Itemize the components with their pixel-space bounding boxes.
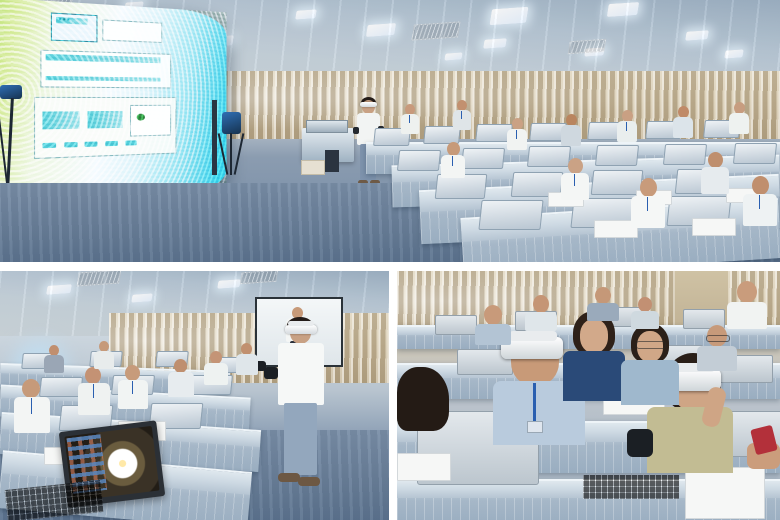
photo-presenter-audience: A young man in a white T-shirt wears a V… — [0, 271, 389, 520]
attendee-torso — [78, 383, 110, 415]
attendee-torso — [525, 312, 557, 331]
attendee-torso — [44, 355, 64, 373]
pc-tower — [325, 150, 339, 172]
vr-headset-icon — [360, 102, 377, 107]
ceiling-light — [686, 30, 710, 41]
keyboard[interactable] — [583, 475, 679, 499]
attendee — [587, 287, 619, 321]
lanyard — [647, 197, 648, 211]
attendee-torso — [204, 363, 228, 385]
equipment-box — [301, 160, 325, 175]
attendee — [560, 158, 590, 200]
attendee-torso — [617, 121, 637, 142]
photo-wide-hall: ■ ■ ■ — [0, 0, 780, 262]
torso — [278, 343, 324, 405]
ceiling-light — [217, 279, 241, 289]
vr-headset-icon — [285, 325, 317, 334]
attendee — [616, 110, 638, 142]
ac-vent — [240, 271, 278, 284]
equipment-box — [692, 218, 736, 236]
attendee — [44, 345, 64, 373]
vr-strap — [509, 331, 557, 341]
glasses-icon — [636, 341, 666, 349]
attendee-torso — [401, 114, 419, 134]
lanyard — [533, 383, 536, 423]
attendee — [742, 176, 778, 226]
attendee-head — [447, 142, 460, 156]
ceiling-light — [46, 284, 72, 295]
attendee-torso — [697, 346, 737, 371]
head — [580, 319, 608, 353]
lanyard — [132, 381, 133, 394]
ceiling-light — [365, 23, 395, 37]
attendee — [630, 178, 666, 228]
attendee — [400, 104, 420, 134]
lanyard — [31, 398, 32, 414]
attendee — [475, 305, 511, 345]
attendee-torso — [475, 324, 511, 345]
attendee-torso — [631, 196, 665, 228]
desk-monitor — [595, 145, 639, 166]
lanyard — [516, 130, 517, 139]
attendee-torso — [673, 117, 693, 138]
attendee — [204, 351, 228, 385]
attendee-head — [22, 379, 40, 398]
attendee-head — [568, 158, 583, 174]
desk-monitor — [435, 315, 477, 335]
dark-hair-foreground — [397, 367, 449, 431]
shoe — [298, 477, 320, 486]
ac-vent — [412, 21, 461, 40]
attendee-head — [533, 295, 549, 313]
lanyard — [626, 122, 627, 131]
attendee — [728, 102, 750, 134]
attendee — [697, 325, 737, 371]
ceiling-light — [483, 38, 507, 49]
lectern-monitor — [306, 120, 348, 133]
ac-vent — [568, 39, 607, 54]
photo-attendees-vr: Close view of seated participants: a man… — [397, 271, 780, 520]
speaker-stand — [212, 100, 217, 175]
attendee-torso — [561, 125, 581, 146]
vr-strap — [288, 321, 314, 326]
attendee-head — [595, 287, 611, 304]
attendee — [118, 365, 148, 409]
lanyard — [574, 174, 575, 186]
desk-monitor — [461, 148, 505, 169]
attendee-torso — [587, 303, 619, 321]
attendee-torso — [701, 167, 729, 194]
legs — [284, 403, 317, 475]
vr-presenter-main — [276, 317, 326, 487]
attendee-torso — [453, 110, 471, 130]
attendee-torso — [441, 155, 465, 178]
attendee-torso — [14, 397, 50, 433]
attendee-blue-shirt — [563, 311, 625, 401]
attendee-torso — [561, 173, 589, 200]
vr-controller — [353, 127, 359, 134]
lanyard — [93, 384, 94, 398]
vr-controller — [627, 429, 653, 457]
attendee — [506, 118, 528, 150]
attendee-torso — [507, 129, 527, 150]
attendee — [440, 142, 466, 178]
attendee — [560, 114, 582, 146]
attendee — [727, 281, 767, 329]
desk-monitor — [478, 200, 543, 230]
tripod-camera-head — [0, 85, 22, 99]
vr-controller — [264, 367, 278, 379]
attendee — [94, 341, 114, 369]
ceiling-light — [490, 7, 529, 25]
ceiling-light — [725, 49, 745, 58]
attendee — [78, 367, 110, 415]
attendee-torso — [727, 302, 767, 329]
attendee-torso — [729, 113, 749, 134]
photo-collage: ■ ■ ■ — [0, 0, 780, 520]
attendee-with-glasses — [621, 323, 679, 405]
attendee-torso — [743, 194, 777, 226]
attendee — [452, 100, 472, 130]
lanyard — [409, 115, 410, 123]
shoe — [278, 473, 300, 482]
attendee — [631, 297, 659, 329]
attendee — [168, 359, 194, 397]
attendee-head — [638, 297, 652, 312]
ceiling-light — [131, 294, 153, 303]
attendee-torso — [168, 372, 194, 397]
moire-pattern — [0, 0, 227, 203]
attendee-head — [174, 359, 187, 373]
attendee — [672, 106, 694, 138]
attendee-torso — [94, 351, 114, 369]
tripod-leg — [230, 133, 232, 175]
attendee-torso — [118, 380, 148, 409]
attendee-head — [85, 367, 101, 384]
glasses-icon — [706, 335, 730, 342]
equipment-box — [397, 453, 451, 481]
attendee — [236, 343, 258, 375]
ac-vent — [76, 271, 121, 286]
curved-led-video-wall: ■ ■ ■ — [0, 0, 227, 203]
attendee-head — [752, 176, 769, 195]
ceiling-light — [607, 2, 639, 17]
attendee-head — [708, 152, 723, 168]
attendee-torso — [631, 311, 659, 329]
attendee-head — [640, 178, 657, 197]
lanyard — [452, 156, 453, 166]
attendee — [14, 379, 50, 433]
lanyard — [461, 111, 462, 119]
attendee-head — [737, 281, 757, 303]
ceiling-light — [444, 52, 462, 60]
ceiling-light — [296, 9, 318, 19]
attendee — [525, 295, 557, 331]
badge — [527, 421, 543, 433]
equipment-box — [685, 467, 765, 519]
attendee — [700, 152, 730, 194]
tripod-camera-head — [222, 112, 241, 134]
attendee-head — [484, 305, 502, 325]
attendee-head — [125, 365, 140, 381]
desk-monitor — [397, 150, 441, 171]
desk-monitor — [733, 143, 777, 164]
lanyard — [759, 195, 760, 209]
ceiling-light — [584, 47, 605, 56]
torso — [621, 360, 679, 405]
torso — [563, 351, 625, 401]
attendee-torso — [236, 354, 258, 375]
